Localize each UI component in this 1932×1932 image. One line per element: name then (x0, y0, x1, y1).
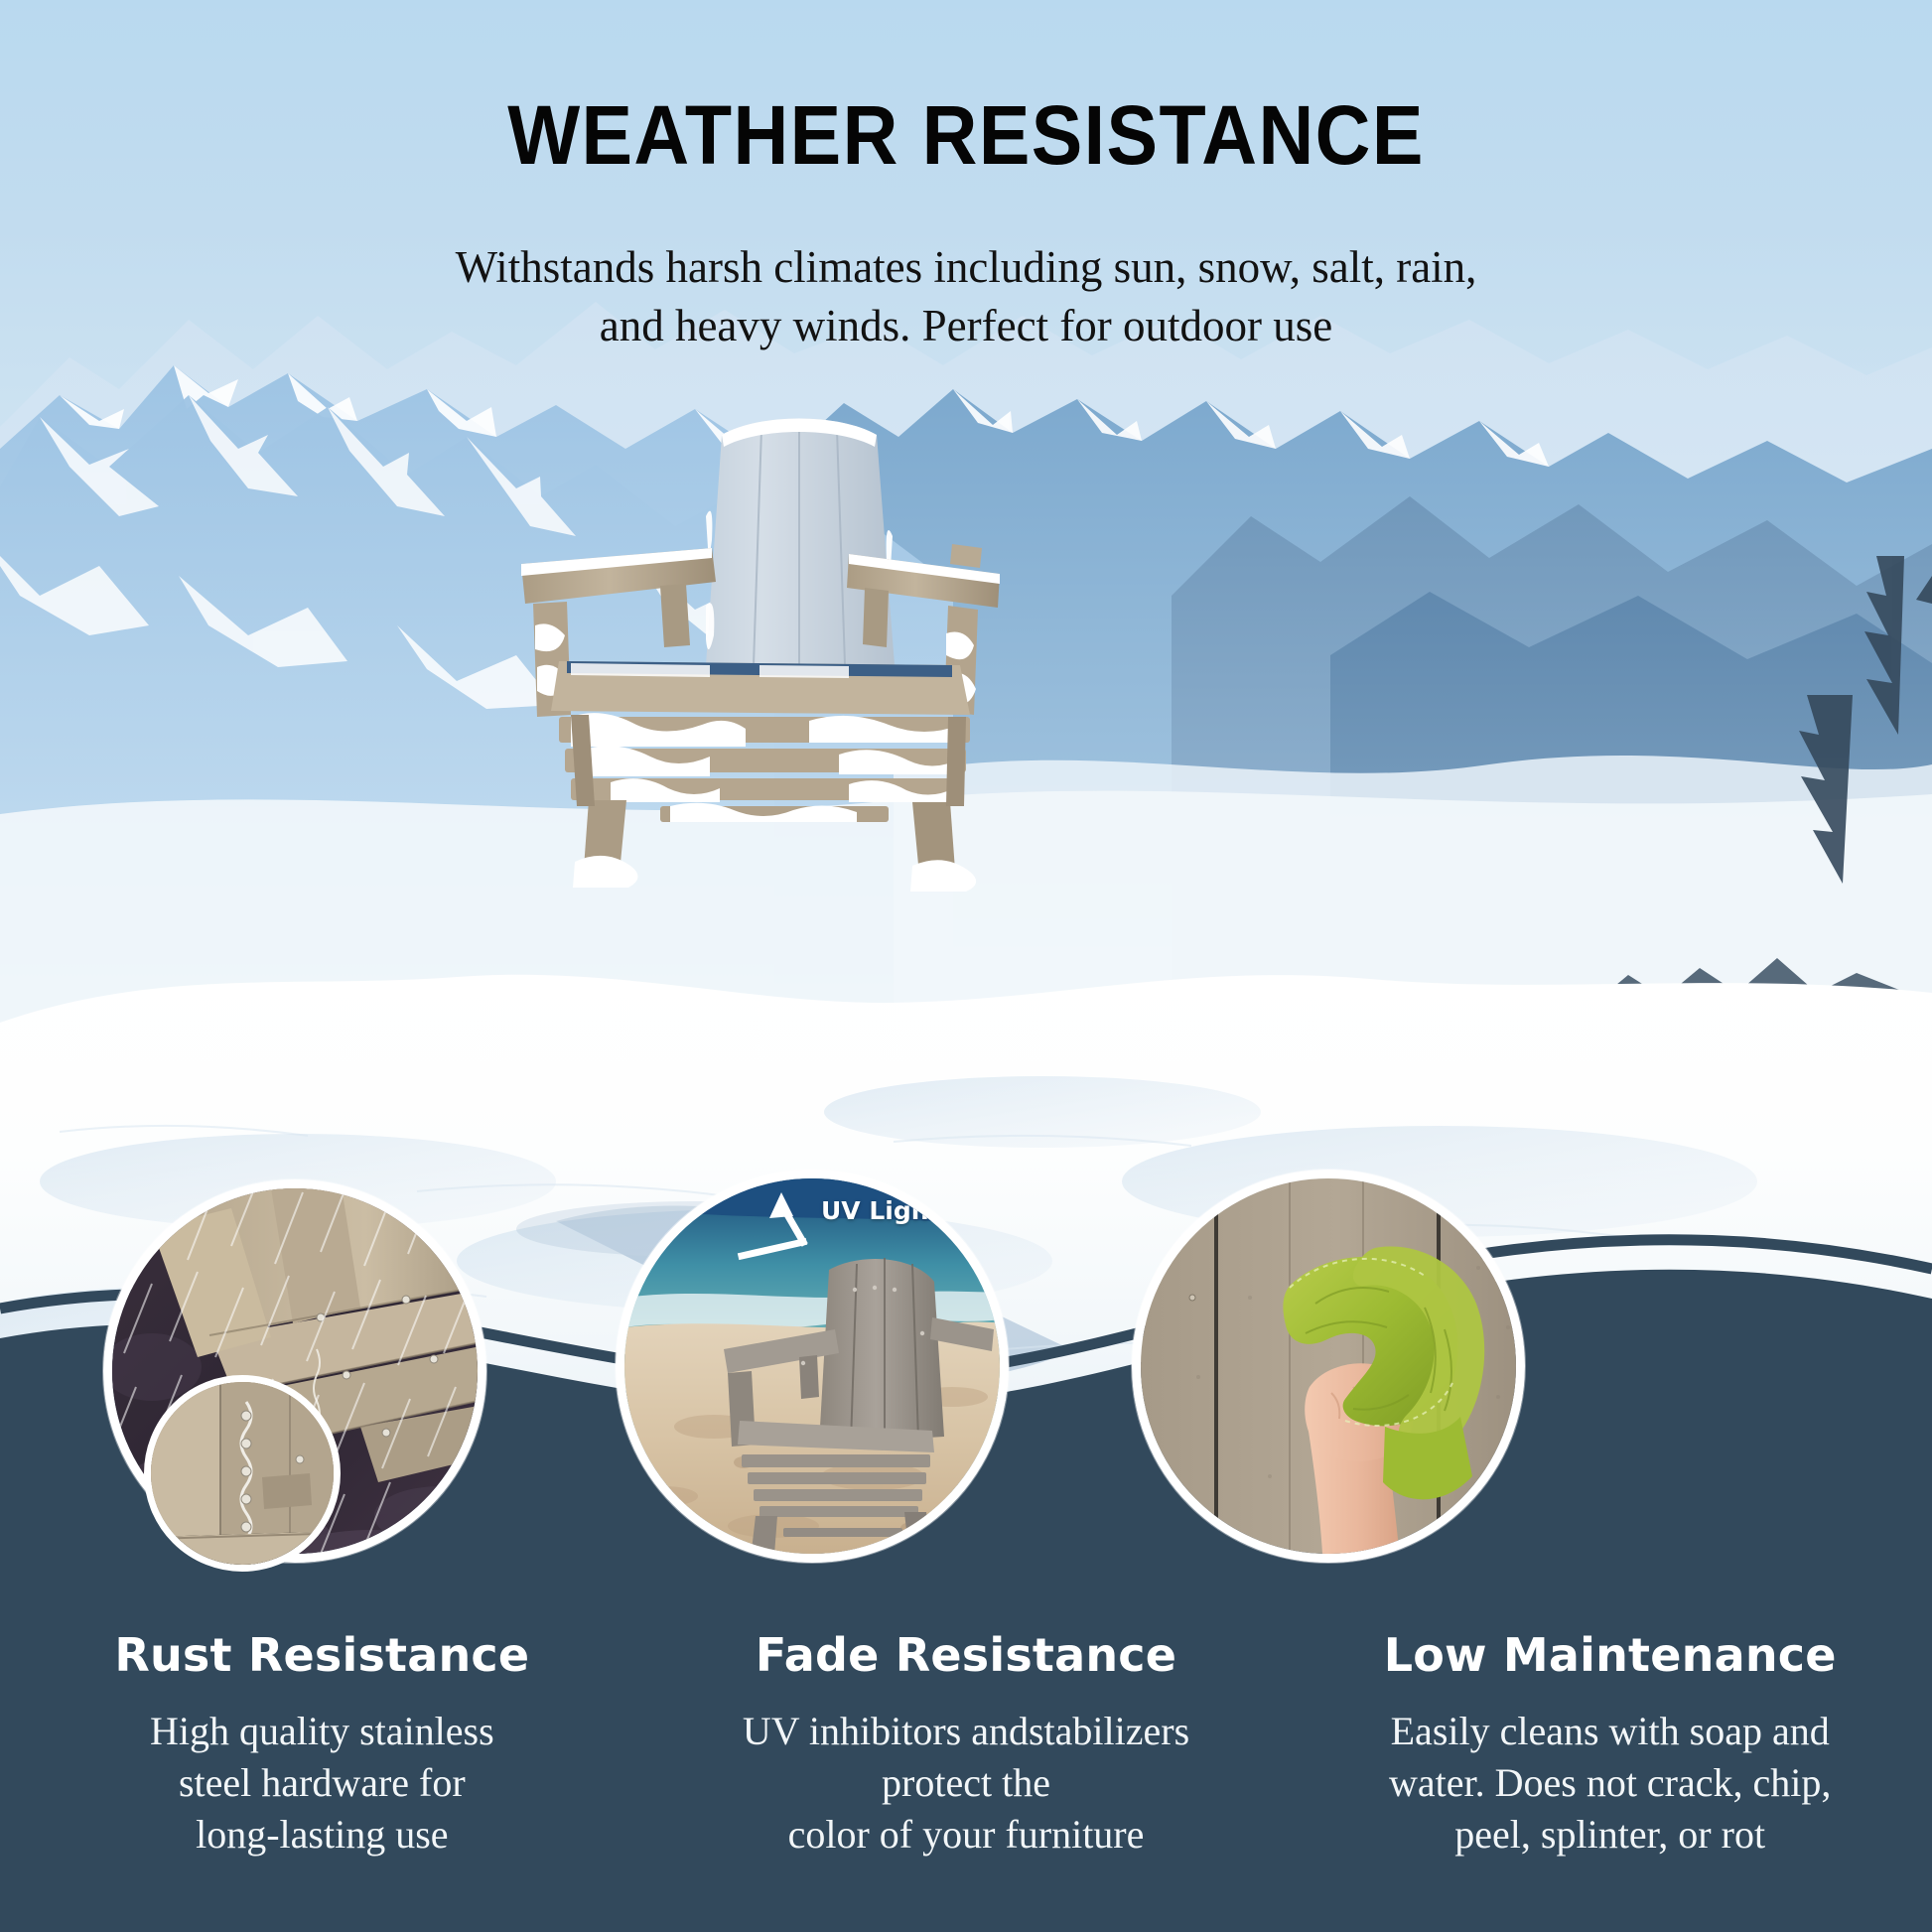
feature-caption-fade-resistance: Fade Resistance UV inhibitors andstabili… (644, 1628, 1289, 1926)
feature-body-line: peel, splinter, or rot (1319, 1809, 1900, 1861)
feature-title-low-maintenance: Low Maintenance (1319, 1628, 1900, 1682)
feature-body-rust-resistance: High quality stainless steel hardware fo… (32, 1706, 613, 1861)
feature-body-low-maintenance: Easily cleans with soap and water. Does … (1319, 1706, 1900, 1861)
feature-body-line: long-lasting use (32, 1809, 613, 1861)
feature-body-line: protect the (676, 1757, 1257, 1809)
feature-captions: Rust Resistance High quality stainless s… (0, 1628, 1932, 1926)
feature-body-line: Easily cleans with soap and (1319, 1706, 1900, 1757)
subtitle-line-2: and heavy winds. Perfect for outdoor use (0, 297, 1932, 355)
feature-body-fade-resistance: UV inhibitors andstabilizers protect the… (676, 1706, 1257, 1861)
subtitle-line-1: Withstands harsh climates including sun,… (0, 238, 1932, 297)
feature-image-low-maintenance (1132, 1170, 1525, 1563)
feature-caption-rust-resistance: Rust Resistance High quality stainless s… (0, 1628, 644, 1926)
feature-body-line: High quality stainless (32, 1706, 613, 1757)
feature-body-line: color of your furniture (676, 1809, 1257, 1861)
feature-title-fade-resistance: Fade Resistance (676, 1628, 1257, 1682)
feature-image-rust-hardware-inset (144, 1375, 341, 1572)
feature-body-line: water. Does not crack, chip, (1319, 1757, 1900, 1809)
feature-title-rust-resistance: Rust Resistance (32, 1628, 613, 1682)
feature-body-line: steel hardware for (32, 1757, 613, 1809)
feature-image-fade-resistance: UV Light (616, 1170, 1009, 1563)
feature-caption-low-maintenance: Low Maintenance Easily cleans with soap … (1288, 1628, 1932, 1926)
uv-light-annotation: UV Light (821, 1196, 941, 1225)
infographic-canvas: WEATHER RESISTANCE Withstands harsh clim… (0, 0, 1932, 1932)
page-title: WEATHER RESISTANCE (77, 87, 1855, 184)
hero-adirondack-chair (511, 417, 1067, 953)
page-subtitle: Withstands harsh climates including sun,… (0, 238, 1932, 356)
feature-body-line: UV inhibitors andstabilizers (676, 1706, 1257, 1757)
